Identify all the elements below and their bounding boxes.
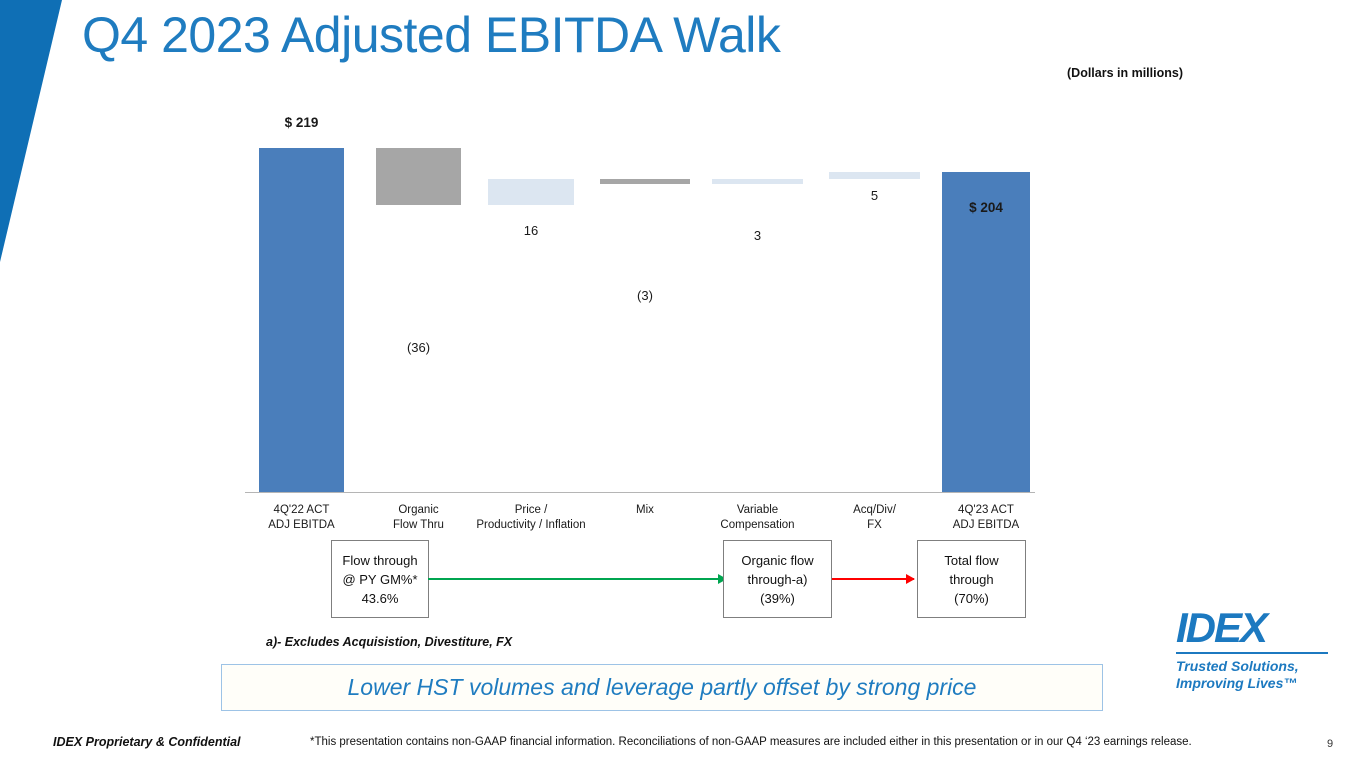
idex-logo-rule — [1176, 652, 1328, 654]
bar-7 — [942, 172, 1030, 492]
bar-value-label-7: $ 204 — [942, 200, 1030, 215]
category-label-7: 4Q'23 ACTADJ EBITDA — [911, 503, 1061, 533]
bar-2 — [376, 148, 461, 205]
category-label-line: ADJ EBITDA — [911, 518, 1061, 533]
category-label-line: Productivity / Inflation — [456, 518, 606, 533]
callout-flow-through-py-gm: Flow through @ PY GM%* 43.6% — [331, 540, 429, 618]
green-arrow — [428, 578, 726, 580]
waterfall-chart: $ 219(36)16(3)35$ 204 4Q'22 ACTADJ EBITD… — [0, 0, 1365, 768]
slide-canvas: Q4 2023 Adjusted EBITDA Walk (Dollars in… — [0, 0, 1365, 768]
bar-value-label-2: (36) — [376, 340, 461, 355]
bar-3 — [488, 179, 574, 204]
idex-logo-wordmark: IDEX — [1176, 606, 1336, 650]
bar-value-label-6: 5 — [829, 188, 920, 203]
callout-line-2: through-a) — [748, 570, 808, 589]
bar-value-label-1: $ 219 — [259, 115, 344, 130]
summary-banner: Lower HST volumes and leverage partly of… — [221, 664, 1103, 711]
bar-value-label-4: (3) — [600, 288, 690, 303]
idex-logo-tagline-line2: Improving Lives™ — [1176, 675, 1336, 692]
callout-line-1: Total flow — [944, 551, 998, 570]
red-arrow-shaft — [832, 578, 914, 580]
footer-confidential: IDEX Proprietary & Confidential — [53, 735, 241, 749]
bar-5 — [712, 179, 803, 184]
bar-value-label-3: 16 — [488, 223, 574, 238]
idex-logo: IDEX Trusted Solutions, Improving Lives™ — [1176, 606, 1336, 706]
chart-baseline-axis — [245, 492, 1035, 493]
callout-line-1: Flow through — [342, 551, 417, 570]
footer-disclaimer: *This presentation contains non-GAAP fin… — [310, 736, 1192, 748]
callout-organic-flow-through: Organic flow through-a) (39%) — [723, 540, 832, 618]
idex-logo-tagline-line1: Trusted Solutions, — [1176, 658, 1336, 675]
bar-6 — [829, 172, 920, 180]
callout-line-3: (70%) — [954, 589, 989, 608]
green-arrow-shaft — [428, 578, 726, 580]
bar-value-label-5: 3 — [712, 228, 803, 243]
red-arrow — [832, 578, 914, 580]
category-label-line: 4Q'23 ACT — [911, 503, 1061, 518]
summary-banner-text: Lower HST volumes and leverage partly of… — [348, 674, 977, 701]
bar-4 — [600, 179, 690, 184]
bar-1 — [259, 148, 344, 492]
callout-line-2: through — [949, 570, 993, 589]
page-number: 9 — [1327, 738, 1333, 750]
footnote-a: a)- Excludes Acquisistion, Divestiture, … — [266, 635, 512, 649]
callout-line-3: (39%) — [760, 589, 795, 608]
callout-line-3: 43.6% — [362, 589, 399, 608]
callout-line-2: @ PY GM%* — [342, 570, 417, 589]
callout-line-1: Organic flow — [741, 551, 813, 570]
red-arrow-head — [906, 574, 915, 584]
callout-total-flow-through: Total flow through (70%) — [917, 540, 1026, 618]
